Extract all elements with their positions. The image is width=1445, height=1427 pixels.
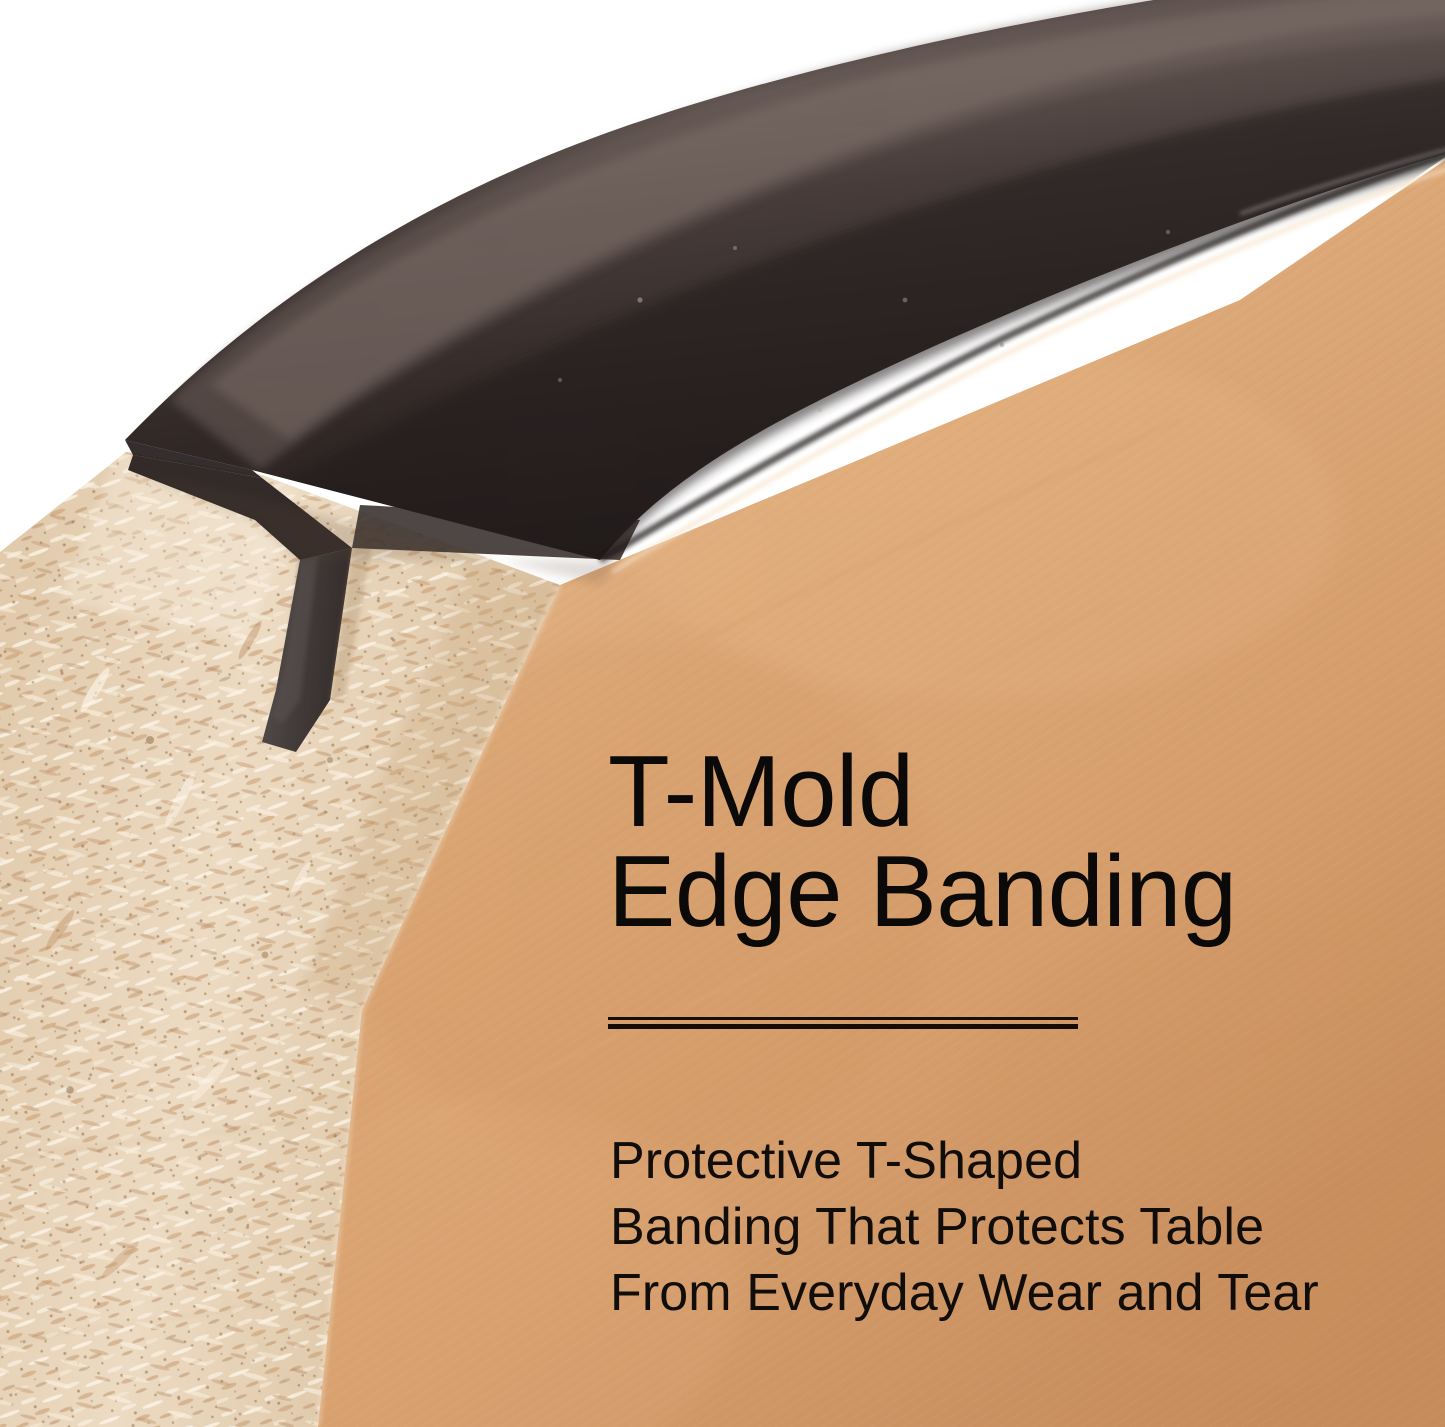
description-line-2: Banding That Protects Table — [610, 1194, 1400, 1260]
headline-block: T-Mold Edge Banding — [608, 742, 1368, 942]
description-line-3: From Everyday Wear and Tear — [610, 1260, 1400, 1326]
product-image: T-Mold Edge Banding Protective T-Shaped … — [0, 0, 1445, 1427]
page-title: T-Mold Edge Banding — [608, 742, 1368, 942]
headline-line-2: Edge Banding — [608, 842, 1368, 942]
description-text: Protective T-Shaped Banding That Protect… — [610, 1128, 1400, 1326]
headline-line-1: T-Mold — [608, 742, 1368, 842]
divider-line-bottom — [608, 1024, 1078, 1029]
divider-line-top — [608, 1017, 1078, 1020]
description-block: Protective T-Shaped Banding That Protect… — [610, 1128, 1400, 1326]
divider — [608, 1017, 1078, 1029]
description-line-1: Protective T-Shaped — [610, 1128, 1400, 1194]
